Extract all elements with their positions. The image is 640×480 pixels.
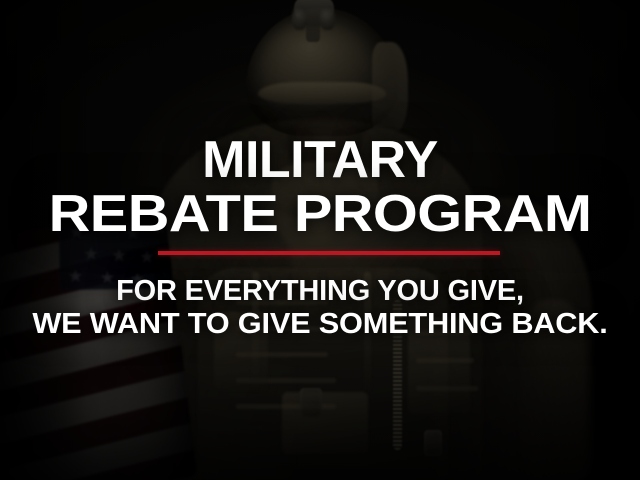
military-rebate-program-poster: ★ ★ ★ ★ ★ ★ ★ ★ ★ ★ MILITARY REBATE PROG…	[0, 0, 640, 480]
gear-pouch	[214, 312, 268, 390]
gear-pouch	[282, 392, 368, 454]
strap-buckle	[424, 430, 442, 456]
shoulder-strap	[364, 272, 371, 392]
soldier-right-arm-highlight	[520, 300, 586, 480]
helmet-band	[258, 82, 386, 104]
goggle-lens-left	[292, 6, 307, 30]
molle-webbing-row	[236, 300, 328, 305]
background-photo: ★ ★ ★ ★ ★ ★ ★ ★ ★ ★	[0, 0, 640, 480]
goggle-lens-right	[320, 6, 335, 30]
night-vision-arm	[306, 16, 320, 42]
neck-gaiter	[272, 162, 378, 218]
vest-zipper	[393, 300, 402, 450]
helmet-accessory-rail	[372, 42, 408, 134]
gear-pouch	[408, 318, 470, 414]
strap-buckle	[300, 388, 322, 418]
american-flag-drape: ★ ★ ★ ★ ★ ★ ★ ★ ★ ★	[0, 213, 198, 480]
shoulder-strap	[252, 272, 259, 392]
flag-shadow-overlay	[0, 213, 198, 480]
